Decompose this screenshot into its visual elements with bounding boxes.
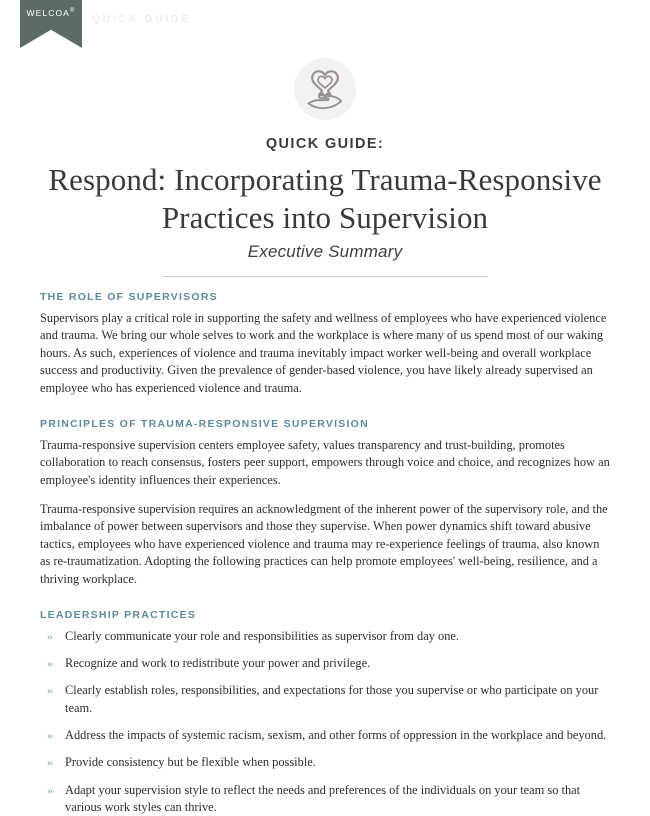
list-item: »Provide consistency but be flexible whe…: [47, 754, 610, 771]
bullet-marker-icon: »: [47, 628, 53, 645]
list-item-text: Adapt your supervision style to reflect …: [65, 783, 580, 814]
paragraph-role-of-supervisors-1: Supervisors play a critical role in supp…: [40, 310, 610, 398]
list-item: »Clearly communicate your role and respo…: [47, 628, 610, 645]
bullet-marker-icon: »: [47, 754, 53, 771]
list-item: »Recognize and work to redistribute your…: [47, 655, 610, 672]
document-body: THE ROLE OF SUPERVISORS Supervisors play…: [0, 291, 650, 816]
guide-label: QUICK GUIDE:: [40, 136, 610, 152]
title-block: QUICK GUIDE: Respond: Incorporating Trau…: [0, 136, 650, 277]
section-heading-leadership-practices: LEADERSHIP PRACTICES: [40, 609, 610, 621]
section-heading-principles: PRINCIPLES OF TRAUMA-RESPONSIVE SUPERVIS…: [40, 418, 610, 430]
brand-name-text: WELCOA: [27, 8, 70, 18]
emblem-container: [0, 58, 650, 120]
list-item-text: Address the impacts of systemic racism, …: [65, 728, 606, 742]
list-item: »Clearly establish roles, responsibiliti…: [47, 682, 610, 717]
registered-mark: ®: [70, 8, 76, 14]
bullet-marker-icon: »: [47, 727, 53, 744]
list-item-text: Clearly establish roles, responsibilitie…: [65, 683, 598, 714]
list-item: »Adapt your supervision style to reflect…: [47, 782, 610, 816]
paragraph-principles-2: Trauma-responsive supervision requires a…: [40, 501, 610, 589]
list-item-text: Clearly communicate your role and respon…: [65, 629, 459, 643]
list-item: »Address the impacts of systemic racism,…: [47, 727, 610, 744]
welcoa-wordmark: WELCOA®: [20, 8, 82, 18]
leadership-practices-list: »Clearly communicate your role and respo…: [40, 628, 610, 816]
page-header: WELCOA® QUICK GUIDE: [0, 0, 650, 52]
list-item-text: Provide consistency but be flexible when…: [65, 755, 316, 769]
paragraph-principles-1: Trauma-responsive supervision centers em…: [40, 437, 610, 490]
section-heading-role-of-supervisors: THE ROLE OF SUPERVISORS: [40, 291, 610, 303]
page-subtitle: Executive Summary: [40, 242, 610, 262]
bullet-marker-icon: »: [47, 682, 53, 699]
bullet-marker-icon: »: [47, 655, 53, 672]
heart-ribbon-in-hand-icon: [304, 67, 346, 111]
bullet-marker-icon: »: [47, 782, 53, 799]
page-title: Respond: Incorporating Trauma-Responsive…: [40, 161, 610, 237]
emblem-circle: [294, 58, 356, 120]
list-item-text: Recognize and work to redistribute your …: [65, 656, 370, 670]
title-divider: [162, 276, 488, 277]
header-kicker-label: QUICK GUIDE: [92, 13, 191, 25]
